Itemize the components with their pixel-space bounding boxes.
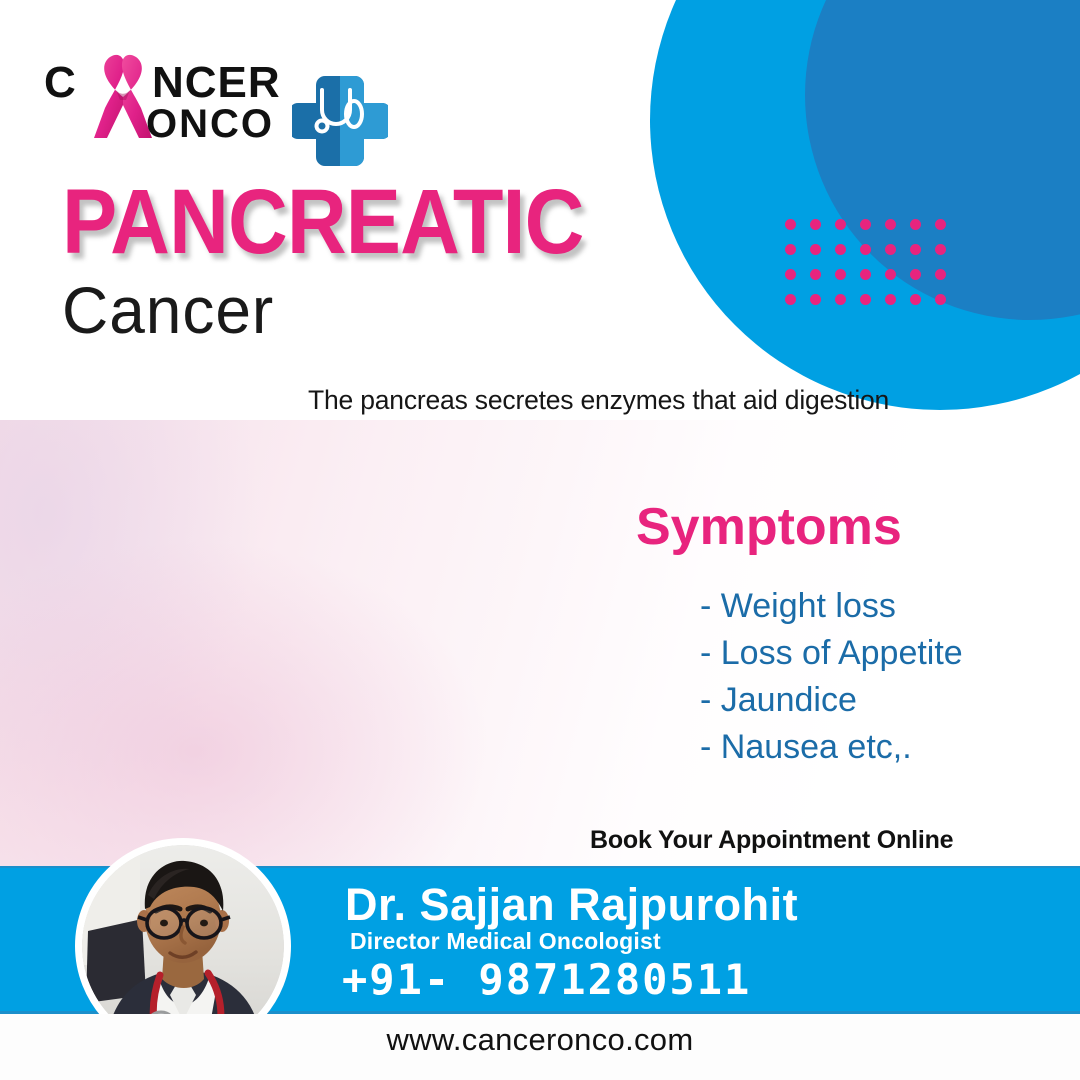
medical-cross-stethoscope-icon — [292, 70, 388, 166]
decor-dot — [835, 244, 846, 255]
decor-dot — [885, 269, 896, 280]
decor-dot — [810, 294, 821, 305]
symptom-item: - Weight loss — [700, 583, 1030, 630]
decor-dot — [935, 294, 946, 305]
decor-dot — [810, 244, 821, 255]
headline-sub: Cancer — [62, 274, 624, 347]
decor-dot — [785, 219, 796, 230]
decor-dot — [885, 244, 896, 255]
poster-canvas: C NCER ONCO PANCREATIC Cancer — [0, 0, 1080, 1080]
brand-logo[interactable]: C NCER ONCO — [44, 36, 364, 136]
symptoms-heading: Symptoms — [636, 497, 902, 557]
description-line-1: The pancreas secretes enzymes that aid d… — [308, 382, 1053, 420]
symptom-item: - Loss of Appetite — [700, 630, 1030, 677]
doctor-name: Dr. Sajjan Rajpurohit — [345, 879, 798, 931]
decor-dot — [885, 219, 896, 230]
logo-letters-ncer: NCER — [152, 58, 281, 108]
decor-dot — [835, 269, 846, 280]
decor-dot — [860, 269, 871, 280]
decor-dot — [785, 294, 796, 305]
doctor-phone[interactable]: +91- 9871280511 — [342, 955, 751, 1004]
logo-word-onco: ONCO — [146, 102, 274, 147]
decor-dot — [910, 294, 921, 305]
doctor-role: Director Medical Oncologist — [350, 928, 661, 955]
book-appointment-text[interactable]: Book Your Appointment Online — [590, 826, 953, 855]
decor-dot-grid — [785, 219, 960, 319]
decor-dot — [860, 294, 871, 305]
decor-dot — [910, 219, 921, 230]
decor-dot — [885, 294, 896, 305]
decor-dot — [935, 269, 946, 280]
decor-dot — [860, 219, 871, 230]
page-title: PANCREATIC Cancer — [62, 176, 641, 347]
headline-main: PANCREATIC — [62, 176, 584, 268]
decor-dot — [935, 244, 946, 255]
decor-dot — [785, 244, 796, 255]
decor-dot — [860, 244, 871, 255]
website-url[interactable]: www.canceronco.com — [0, 1022, 1080, 1058]
decor-dot — [935, 219, 946, 230]
decor-dot — [835, 219, 846, 230]
logo-letter-c: C — [44, 58, 77, 108]
symptom-item: - Nausea etc,. — [700, 724, 1030, 771]
decor-dot — [785, 269, 796, 280]
decor-dot — [835, 294, 846, 305]
decor-dot — [810, 269, 821, 280]
decor-dot — [910, 244, 921, 255]
decor-dot — [810, 219, 821, 230]
decor-dot — [910, 269, 921, 280]
symptoms-list: - Weight loss- Loss of Appetite- Jaundic… — [700, 583, 1030, 771]
pink-awareness-ribbon-icon — [92, 50, 154, 142]
symptom-item: - Jaundice — [700, 677, 1030, 724]
